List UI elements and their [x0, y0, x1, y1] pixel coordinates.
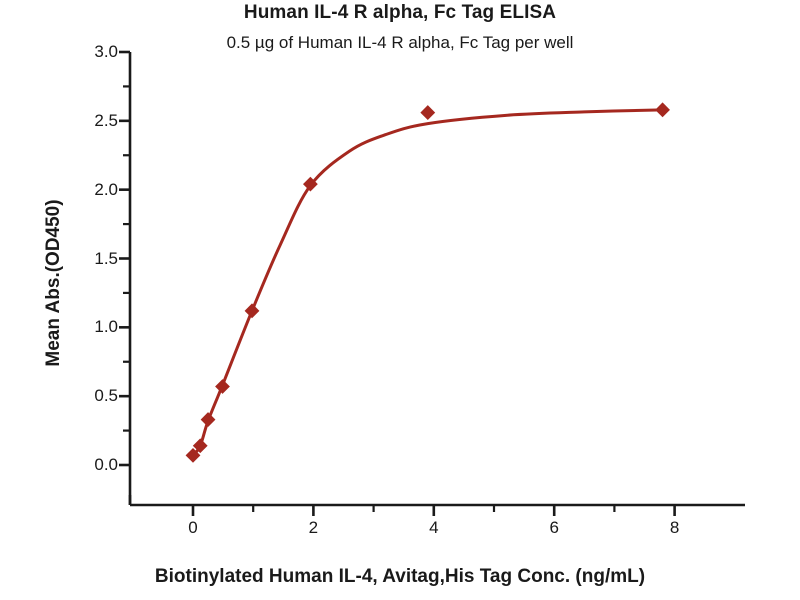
elisa-chart-figure: Human IL-4 R alpha, Fc Tag ELISA 0.5 µg …	[0, 0, 800, 600]
y-axis-ticks	[119, 52, 130, 465]
data-point-marker	[245, 303, 260, 318]
axis-spines	[130, 52, 745, 505]
data-point-marker	[201, 412, 216, 427]
data-point-marker	[420, 105, 435, 120]
data-point-marker	[215, 379, 230, 394]
plot-area	[0, 0, 800, 600]
data-point-marker	[655, 102, 670, 117]
fit-curve	[193, 110, 663, 456]
data-points	[186, 102, 670, 462]
